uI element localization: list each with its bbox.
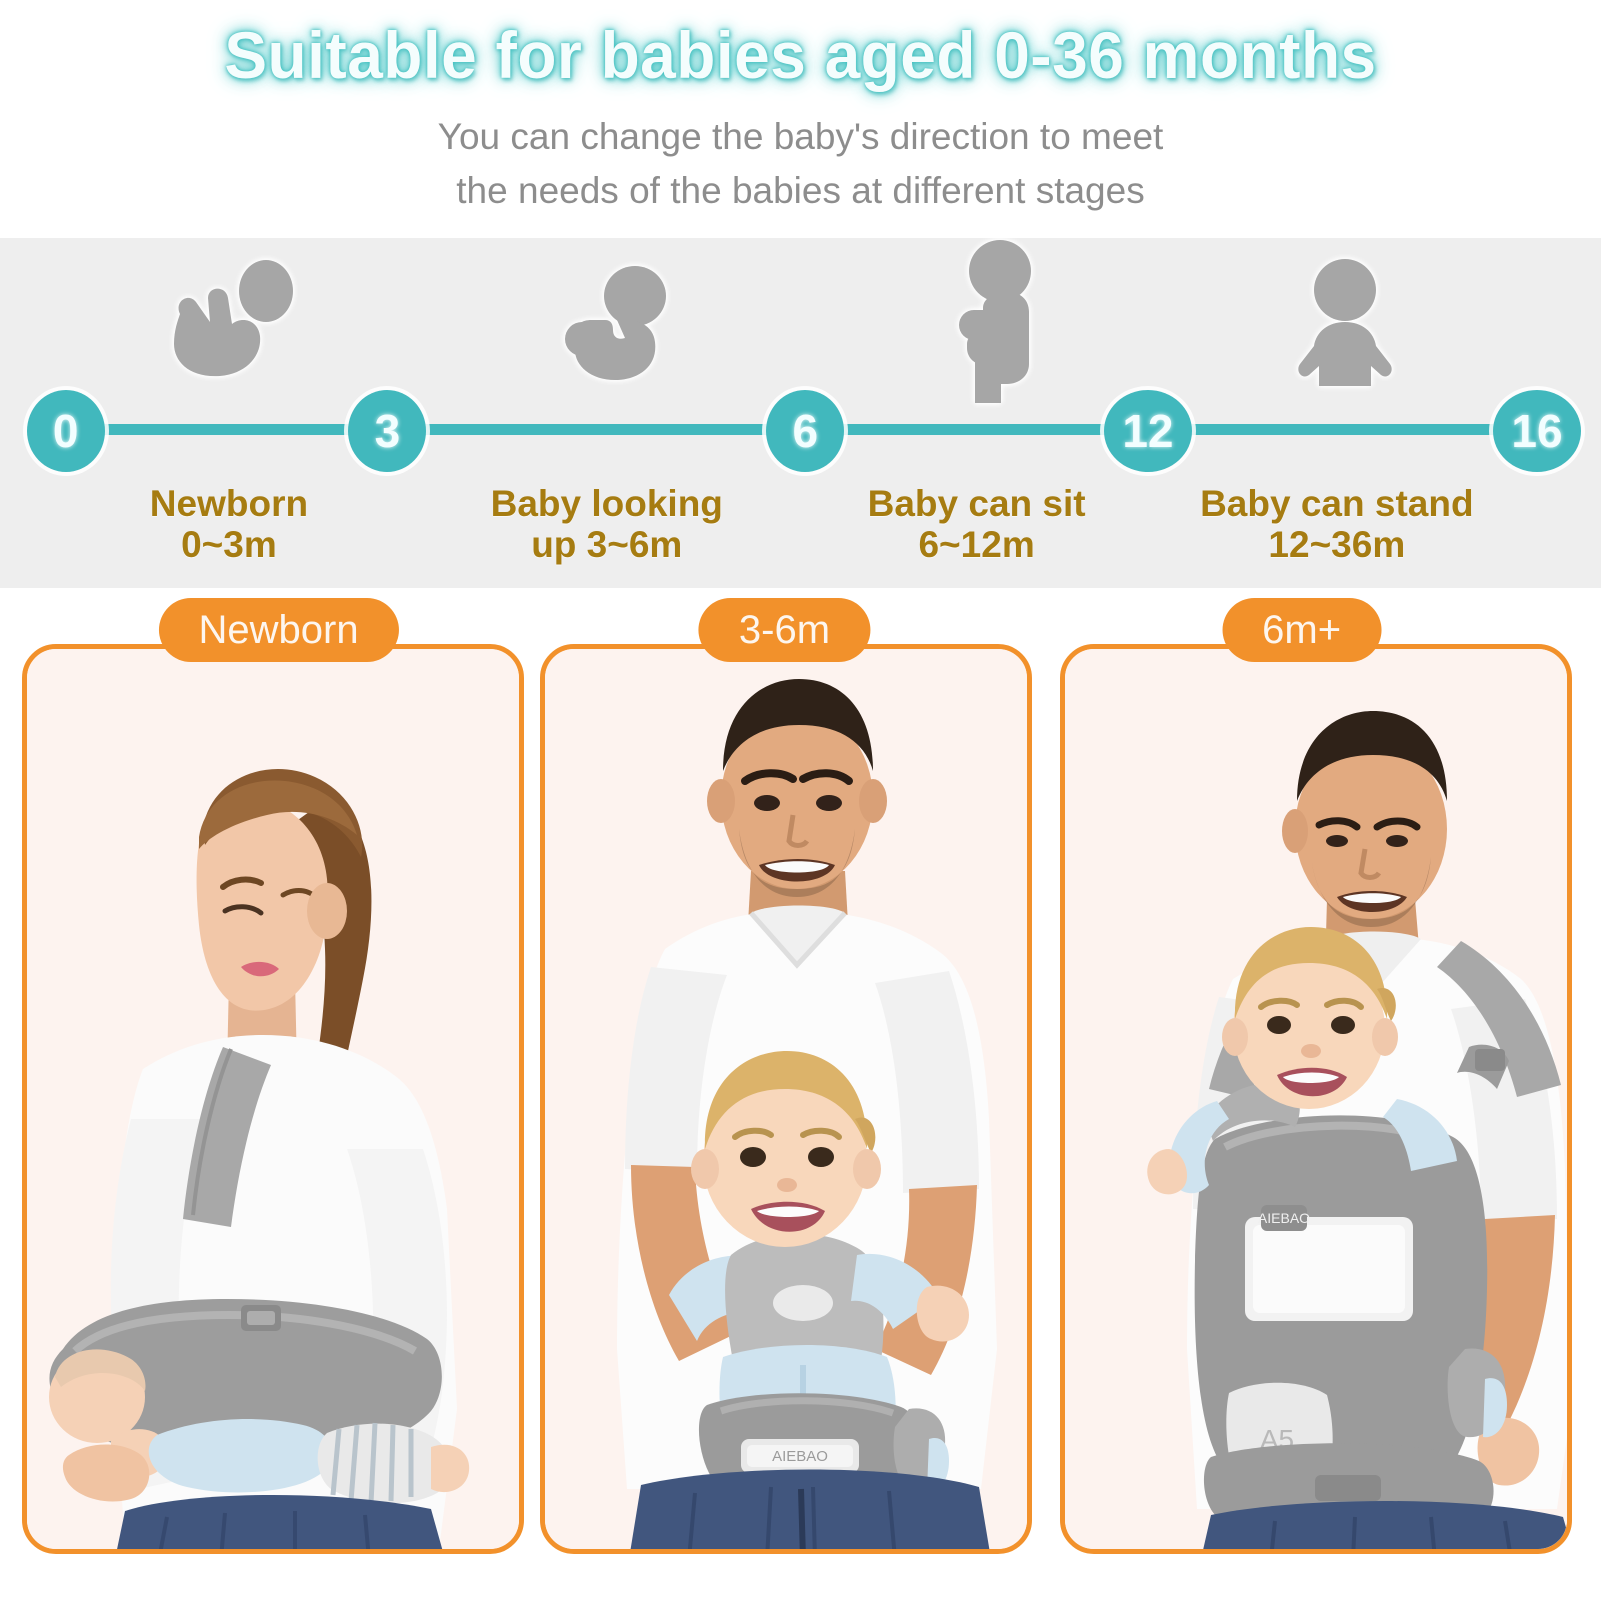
tab-label: Newborn [199, 608, 359, 653]
baby-reclined-icon [545, 266, 685, 386]
baby-standing-icon [1288, 258, 1403, 388]
tab-label: 3-6m [739, 608, 830, 653]
timeline-node-16[interactable]: 16 [1493, 390, 1581, 472]
stage-range: up 3~6m [491, 524, 723, 565]
stage-range: 0~3m [150, 524, 308, 565]
stage-label-newborn: Newborn 0~3m [150, 483, 308, 566]
timeline-node-0[interactable]: 0 [27, 390, 105, 472]
photo-panel-3-6m[interactable]: AIEBAO [540, 644, 1032, 1554]
stage-label-can-stand: Baby can stand 12~36m [1200, 483, 1473, 566]
stage-label-looking-up: Baby looking up 3~6m [491, 483, 723, 566]
timeline-node-value: 6 [793, 404, 819, 458]
svg-text:AIEBAO: AIEBAO [1258, 1210, 1310, 1226]
tab-6m-plus[interactable]: 6m+ [1222, 598, 1381, 662]
photo-3-6m-carry: AIEBAO [545, 649, 1027, 1549]
stage-range: 6~12m [868, 524, 1086, 565]
stage-title: Baby looking [491, 483, 723, 524]
timeline-node-6[interactable]: 6 [766, 390, 844, 472]
timeline-node-12[interactable]: 12 [1104, 390, 1192, 472]
timeline-node-value: 0 [53, 404, 79, 458]
timeline-node-value: 16 [1511, 404, 1562, 458]
photo-6m-plus-carry: AIEBAO A5 [1065, 649, 1567, 1549]
stage-title: Baby can stand [1200, 483, 1473, 524]
tab-label: 6m+ [1262, 608, 1341, 653]
timeline-node-3[interactable]: 3 [348, 390, 426, 472]
timeline-node-value: 3 [375, 404, 401, 458]
newborn-lying-icon [150, 258, 300, 383]
timeline-node-value: 12 [1122, 404, 1173, 458]
page-subtitle-line-2: the needs of the babies at different sta… [0, 164, 1601, 218]
stage-title: Newborn [150, 483, 308, 524]
page-title: Suitable for babies aged 0-36 months [24, 22, 1577, 88]
photo-newborn-carry [27, 649, 519, 1549]
usage-showcase: Newborn 3-6m 6m+ [0, 588, 1601, 1601]
page-subtitle-line-1: You can change the baby's direction to m… [0, 110, 1601, 164]
stage-title: Baby can sit [868, 483, 1086, 524]
photo-panel-newborn[interactable] [22, 644, 524, 1554]
baby-sitting-icon [935, 238, 1055, 403]
header: Suitable for babies aged 0-36 months You… [0, 0, 1601, 238]
tab-3-6m[interactable]: 3-6m [699, 598, 870, 662]
age-timeline: 0 3 6 12 16 Newborn 0~3m Baby looking up… [0, 238, 1601, 588]
svg-text:AIEBAO: AIEBAO [772, 1448, 828, 1465]
page-subtitle: You can change the baby's direction to m… [0, 110, 1601, 217]
tab-newborn[interactable]: Newborn [159, 598, 399, 662]
stage-label-can-sit: Baby can sit 6~12m [868, 483, 1086, 566]
stage-range: 12~36m [1200, 524, 1473, 565]
photo-panel-6m-plus[interactable]: AIEBAO A5 [1060, 644, 1572, 1554]
